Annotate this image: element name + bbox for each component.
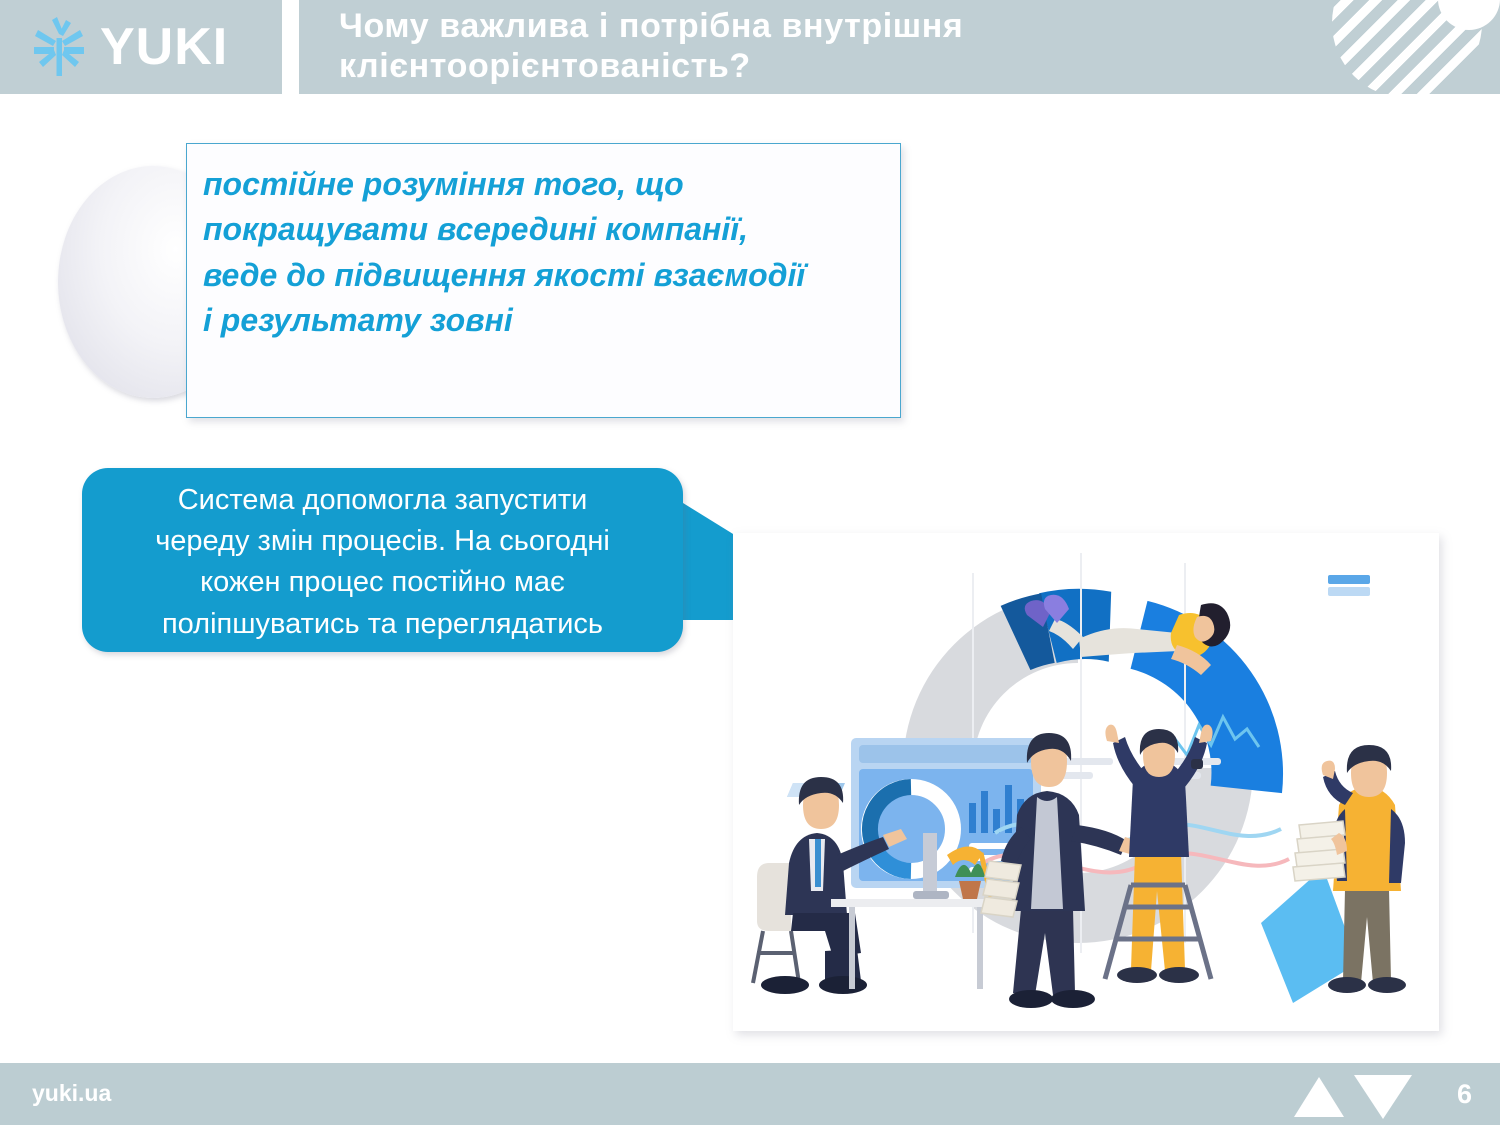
- quote-line-3: веде до підвищення якості взаємодії: [203, 253, 886, 298]
- page-title-line-2: клієнтоорієнтованість?: [339, 46, 1369, 86]
- quote-box: постійне розуміння того, що покращувати …: [186, 143, 901, 418]
- brand-logo[interactable]: YUKI: [26, 10, 228, 84]
- callout-line-3: кожен процес постійно має: [102, 562, 663, 603]
- callout-line-4: поліпшуватись та переглядатись: [102, 604, 663, 645]
- header-title-band: Чому важлива і потрібна внутрішня клієнт…: [299, 0, 1500, 94]
- yuki-asterisk-logo-icon: [26, 14, 92, 80]
- slide: YUKI Чому важлива і потрібна внутрішня к…: [0, 0, 1500, 1125]
- callout-text: Система допомогла запустити череду змін …: [102, 480, 663, 645]
- illustration-panel: [733, 533, 1439, 1031]
- page-title-line-1: Чому важлива і потрібна внутрішня: [339, 6, 1369, 46]
- footer-website-link[interactable]: yuki.ua: [32, 1080, 111, 1107]
- quote-line-2: покращувати всередині компанії,: [203, 207, 886, 252]
- white-dot-decoration: [1438, 0, 1500, 30]
- callout-line-1: Система допомогла запустити: [102, 480, 663, 521]
- footer-band: yuki.ua 6: [0, 1063, 1500, 1125]
- page-number: 6: [1457, 1079, 1472, 1110]
- business-team-donut-chart-illustration: [733, 533, 1439, 1031]
- triangle-down-icon[interactable]: [1354, 1075, 1412, 1119]
- triangle-up-icon[interactable]: [1294, 1077, 1344, 1117]
- callout-bubble-body: Система допомогла запустити череду змін …: [82, 468, 683, 652]
- slide-navigation: [1294, 1075, 1412, 1119]
- quote-text: постійне розуміння того, що покращувати …: [203, 162, 886, 344]
- logo-wordmark: YUKI: [100, 21, 228, 73]
- page-title: Чому важлива і потрібна внутрішня клієнт…: [339, 6, 1369, 86]
- callout-line-2: череду змін процесів. На сьогодні: [102, 521, 663, 562]
- quote-line-4: і результату зовні: [203, 298, 886, 343]
- quote-line-1: постійне розуміння того, що: [203, 162, 886, 207]
